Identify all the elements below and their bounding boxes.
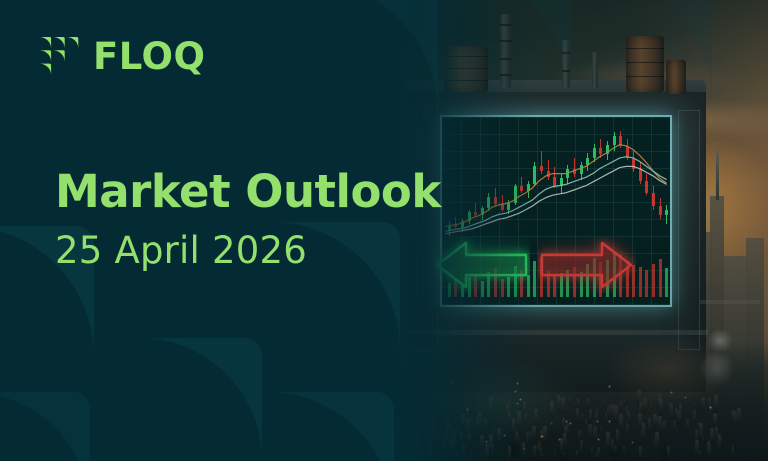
floq-wordmark: FLOQ — [93, 38, 205, 75]
headline-block: Market Outlook 25 April 2026 — [55, 168, 441, 271]
market-outlook-banner: FLOQ Market Outlook 25 April 2026 — [0, 0, 768, 461]
floq-fin-grid-mark-icon — [38, 36, 80, 76]
page-title: Market Outlook — [55, 168, 441, 217]
floq-logo[interactable]: FLOQ — [38, 36, 205, 76]
banner-content: FLOQ Market Outlook 25 April 2026 — [0, 0, 768, 461]
page-date: 25 April 2026 — [55, 231, 441, 272]
